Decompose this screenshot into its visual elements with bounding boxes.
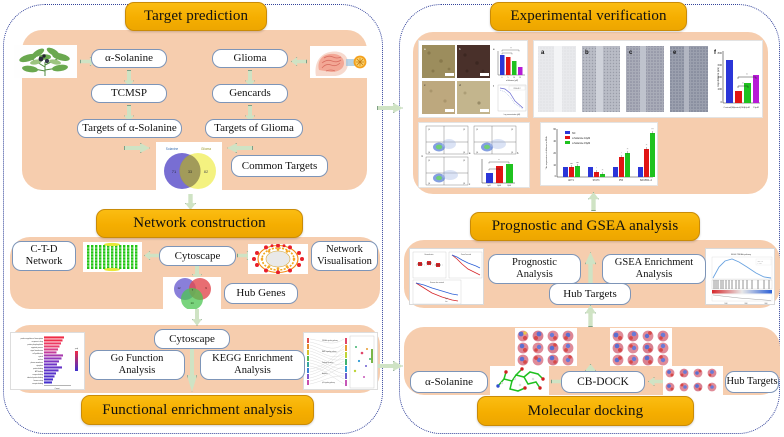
- flow-cytometry-panel: Q1Q2Q4Q3 Q1Q2Q4Q3 Q1Q2Q4Q3 abc * 0μM10μM…: [418, 122, 530, 188]
- svg-text:**: **: [646, 145, 648, 147]
- label-targets-of-glioma: Targets of Glioma: [205, 119, 303, 138]
- svg-text:Gap distance (μm): Gap distance (μm): [717, 67, 720, 87]
- svg-text:12: 12: [177, 286, 181, 290]
- cell-morphology-micrographs: ab cd e ** 051015: [418, 40, 528, 118]
- svg-text:P53: P53: [619, 180, 624, 182]
- label-go-function-analysis: Go Function Analysis: [89, 350, 185, 380]
- label-hub-targets-prognostic: Hub Targets: [549, 283, 631, 305]
- svg-text:Count: Count: [55, 387, 60, 390]
- kegg-sankey-plot-image: PI3K-Akt signaling pathway MAPK signalin…: [303, 332, 378, 390]
- svg-text:Q3: Q3: [463, 152, 465, 154]
- svg-text:*: *: [499, 159, 500, 162]
- svg-text:b: b: [585, 50, 589, 56]
- brain-image: [310, 46, 368, 78]
- label-ctd-network: C-T-D Network: [12, 241, 76, 271]
- label-targets-of-alpha-solanine: Targets of α-Solanine: [77, 119, 182, 138]
- svg-text:Q1: Q1: [476, 129, 478, 131]
- arrow-glioma-targets-to-venn: [227, 143, 253, 153]
- venn-two-set-image: Solanine Glioma 71 33 82: [156, 142, 222, 194]
- svg-text:Glioma: Glioma: [201, 147, 211, 151]
- svg-text:10μM: 10μM: [497, 185, 502, 187]
- svg-text:Q3: Q3: [511, 152, 513, 154]
- svg-text:Q2: Q2: [511, 129, 513, 131]
- arrow-cytoscape-to-bottom: [187, 348, 197, 392]
- svg-text:15μM: 15μM: [753, 107, 759, 109]
- svg-text:0: 0: [502, 77, 503, 79]
- svg-text:33: 33: [188, 170, 192, 174]
- label-cytoscape-enrichment: Cytoscape: [154, 329, 230, 349]
- svg-text:α-Solanine 10μM: α-Solanine 10μM: [572, 137, 590, 140]
- label-kegg-enrichment-analysis: KEGG Enrichment Analysis: [200, 350, 305, 380]
- svg-text:AKT1: AKT1: [568, 179, 574, 182]
- arrow-hubtargets-to-gsea: [585, 252, 596, 284]
- go-enrichment-plot-image: positive regulation of transcription res…: [10, 332, 85, 390]
- svg-text:**: **: [627, 149, 629, 151]
- svg-text:82: 82: [204, 169, 209, 174]
- svg-text:Q4: Q4: [428, 152, 430, 154]
- label-tcmsp: TCMSP: [91, 84, 167, 103]
- svg-text:α-Solanine (μM): α-Solanine (μM): [506, 80, 519, 82]
- svg-text:nucleus: nucleus: [38, 359, 43, 361]
- label-hub-targets-docking: Hub Targets: [725, 371, 779, 393]
- svg-text:The expression of different mR: The expression of different mRNA: [545, 136, 548, 169]
- banner-network-construction: Network construction: [96, 209, 303, 238]
- label-gencards: Gencards: [212, 84, 288, 103]
- arrow-solanine-targets-to-venn: [124, 143, 150, 153]
- svg-text:Q2: Q2: [463, 129, 465, 131]
- svg-text:1000: 1000: [725, 303, 728, 305]
- label-network-visualisation: Network Visualisation: [311, 241, 378, 271]
- alpha-solanine-structure-image: [490, 366, 549, 396]
- banner-molecular-docking: Molecular docking: [477, 396, 694, 426]
- svg-text:2000: 2000: [745, 303, 748, 305]
- svg-text:p=0.004: p=0.004: [758, 263, 763, 265]
- kaplan-meier-survival-image: Hazard ratio Overall survival Disease fr…: [409, 248, 484, 305]
- svg-text:STAT3: STAT3: [593, 179, 601, 182]
- label-glioma: Glioma: [212, 49, 288, 68]
- arrow-to-network-construction: [185, 192, 196, 210]
- label-alpha-solanine: α-Solanine: [91, 49, 167, 68]
- arrow-left-to-right-top: [377, 103, 403, 113]
- label-cb-dock: CB-DOCK: [561, 371, 645, 393]
- arrow-docking-to-prognostic: [585, 305, 596, 327]
- svg-text:600: 600: [718, 63, 723, 67]
- arrow-cytoscape-to-ctd: [144, 251, 160, 260]
- western-blot-quantification-chart: 6040 20100: [540, 122, 658, 186]
- svg-text:Q4: Q4: [476, 152, 478, 154]
- svg-text:Q1: Q1: [428, 129, 430, 131]
- label-alpha-solanine-docking: α-Solanine: [410, 371, 488, 393]
- svg-text:14: 14: [190, 301, 194, 305]
- svg-text:ns: ns: [570, 163, 572, 165]
- svg-text:BAX/BCL-2: BAX/BCL-2: [640, 179, 652, 182]
- ctd-network-grid-image: [83, 242, 142, 272]
- label-common-targets: Common Targets: [231, 155, 328, 177]
- label-gsea-enrichment-analysis: GSEA Enrichment Analysis: [602, 254, 706, 284]
- svg-text:ns: ns: [576, 162, 578, 164]
- banner-prognostic-gsea: Prognostic and GSEA analysis: [470, 212, 700, 241]
- label-cytoscape-network: Cytoscape: [159, 246, 236, 266]
- arrow-gsea-to-experimental: [588, 192, 599, 211]
- svg-text:71: 71: [172, 169, 177, 174]
- wound-healing-panel: a b c e f 800600 400200: [533, 40, 763, 118]
- svg-text:High: High: [445, 298, 448, 300]
- svg-text:Q1: Q1: [428, 160, 430, 162]
- arrow-left-to-right-bottom: [377, 361, 403, 371]
- svg-text:5: 5: [508, 77, 509, 79]
- svg-text:10μM: 10μM: [744, 107, 750, 109]
- label-hub-genes: Hub Genes: [224, 283, 298, 304]
- arrow-to-functional-enrichment: [192, 308, 202, 326]
- svg-text:Solanine: Solanine: [166, 147, 179, 151]
- workflow-diagram: Target prediction: [0, 0, 784, 437]
- svg-text:NC: NC: [572, 132, 576, 135]
- arrow-brain-to-glioma: [291, 57, 307, 66]
- venn-three-set-image: 12 9 14 7: [163, 277, 221, 309]
- svg-text:15μM: 15μM: [507, 185, 512, 187]
- svg-text:Q3: Q3: [463, 183, 465, 185]
- svg-text:enzyme binding: enzyme binding: [32, 374, 43, 376]
- hub-target-structures-image: [663, 366, 723, 396]
- svg-text:Q4: Q4: [428, 183, 430, 185]
- network-visualisation-image: [248, 244, 308, 274]
- svg-text:IC50=11.2: IC50=11.2: [514, 88, 521, 90]
- svg-text:α-Solanine 15μM: α-Solanine 15μM: [572, 142, 590, 145]
- label-prognostic-analysis: Prognostic Analysis: [488, 254, 581, 284]
- gsea-enrichment-plot-image: KEGG PI3K-Akt pathway NES=1.92p=0.004: [705, 248, 775, 305]
- svg-text:800: 800: [718, 51, 723, 55]
- plant-image: [14, 45, 77, 78]
- svg-text:Low: Low: [445, 301, 447, 303]
- docking-complexes-left-image: [515, 328, 577, 366]
- banner-experimental-verification: Experimental verification: [490, 2, 687, 31]
- svg-text:10: 10: [513, 77, 515, 79]
- svg-text:***: ***: [651, 129, 654, 131]
- banner-functional-enrichment: Functional enrichment analysis: [81, 395, 314, 425]
- svg-text:15: 15: [519, 77, 521, 79]
- svg-text:KEGG PI3K-Akt pathway: KEGG PI3K-Akt pathway: [731, 253, 751, 256]
- svg-text:**: **: [602, 170, 604, 172]
- docking-complexes-right-image: [610, 328, 672, 366]
- svg-text:Q2: Q2: [463, 160, 465, 162]
- banner-target-prediction: Target prediction: [125, 2, 267, 31]
- svg-text:**: **: [510, 48, 512, 50]
- svg-text:3000: 3000: [765, 303, 768, 305]
- svg-text:Annexin V: Annexin V: [442, 186, 453, 188]
- svg-text:NES=1.92: NES=1.92: [758, 261, 764, 263]
